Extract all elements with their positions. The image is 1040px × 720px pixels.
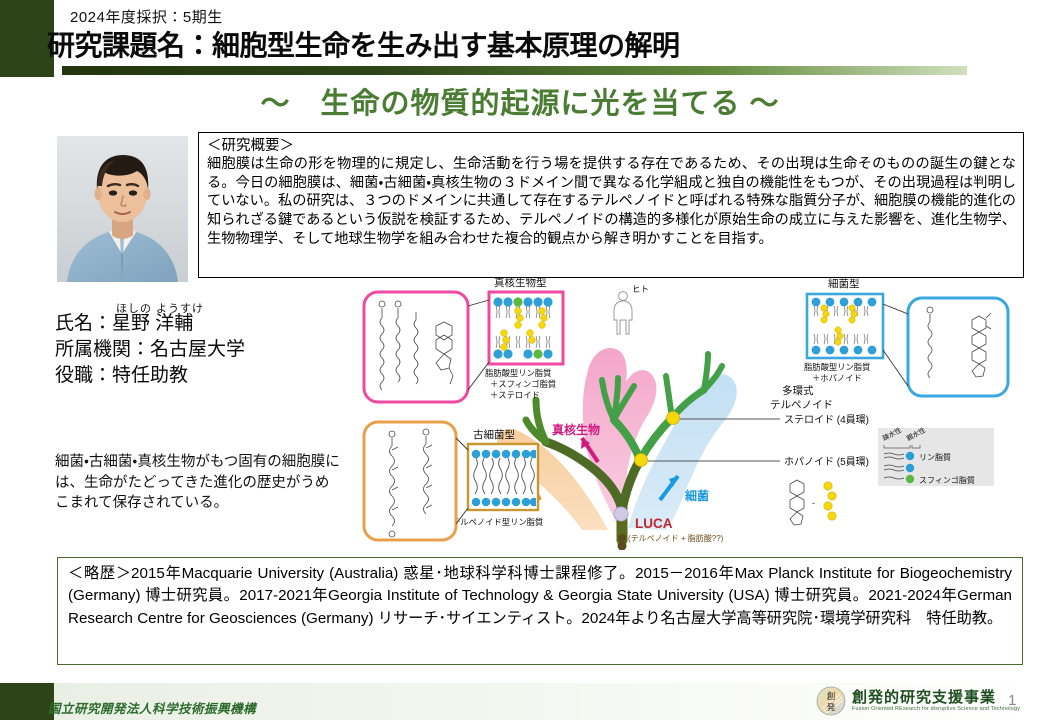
archaea-caption-1: テルペノイド型リン脂質 bbox=[452, 517, 543, 527]
organization-name: 国立研究開発法人科学技術振興機構 bbox=[48, 698, 256, 717]
bacteria-membrane-bilayer bbox=[809, 296, 881, 356]
profile-affiliation: 所属機関：名古屋大学 bbox=[55, 337, 245, 363]
bacteria-structure-box bbox=[908, 298, 1008, 396]
program-logo: 創 発 創発的研究支援事業 Fusion Oriented REsearch f… bbox=[816, 686, 1020, 716]
terpenoid-title-line1: 多環式 bbox=[782, 384, 814, 397]
research-summary-heading: ＜研究概要＞ bbox=[207, 137, 1016, 155]
eukaryote-caption-3: ＋ステロイド bbox=[490, 390, 540, 400]
page-number: 1 bbox=[1008, 692, 1016, 709]
steroid-node bbox=[667, 412, 680, 425]
page-title: 研究課題名：細胞型生命を生み出す基本原理の解明 bbox=[47, 24, 680, 64]
svg-text:創: 創 bbox=[827, 692, 836, 702]
human-label: ヒト bbox=[632, 284, 649, 294]
legend-sphingolipid-head bbox=[906, 475, 914, 483]
archaea-structure-box bbox=[364, 422, 456, 540]
bacteria-label: 細菌 bbox=[685, 488, 709, 503]
program-logo-text: 創発的研究支援事業 Fusion Oriented REsearch for d… bbox=[852, 690, 1020, 712]
archaea-membrane-monolayer bbox=[470, 446, 538, 508]
polycyclic-structure-sketch bbox=[790, 480, 804, 525]
profile-name: 氏名：星野 洋輔 bbox=[55, 311, 245, 337]
bacteria-panel-title: 細菌型 bbox=[828, 278, 860, 290]
structure-dash-label: - bbox=[812, 498, 815, 508]
bacteria-caption-1: 脂肪酸型リン脂質 bbox=[804, 362, 870, 372]
profile-position: 役職：特任助教 bbox=[55, 363, 245, 389]
create-logo-icon: 創 発 bbox=[816, 686, 846, 716]
research-summary-box: ＜研究概要＞ 細胞膜は生命の形を物理的に規定し、生命活動を行う場を提供する存在で… bbox=[198, 132, 1024, 278]
profile-block: 氏名：星野 洋輔 所属機関：名古屋大学 役職：特任助教 bbox=[55, 311, 245, 388]
terpenoid-bead-chain bbox=[824, 482, 836, 520]
steroid-label: ステロイド (4員環) bbox=[784, 414, 869, 426]
program-name-en: Fusion Oriented REsearch for disruptive … bbox=[852, 707, 1020, 712]
eukaryote-label: 真核生物 bbox=[552, 422, 600, 437]
luca-sublabel: (テルペノイド + 脂肪酸??) bbox=[628, 533, 724, 543]
biography-box: ＜略歴＞2015年Macquarie University (Australia… bbox=[57, 557, 1023, 665]
membrane-evolution-figure: ヒト 真核生物 細菌 古細菌 LUCA (テルペノイド + 脂肪酸??) bbox=[360, 278, 1030, 550]
human-icon bbox=[614, 292, 632, 334]
footer-accent-bar bbox=[0, 683, 54, 720]
header-accent-bar bbox=[0, 0, 54, 77]
biography-text: ＜略歴＞2015年Macquarie University (Australia… bbox=[68, 563, 1012, 630]
program-name-jp: 創発的研究支援事業 bbox=[852, 690, 1020, 705]
slide-root: 2024年度採択：5期生 研究課題名：細胞型生命を生み出す基本原理の解明 〜 生… bbox=[0, 0, 1040, 720]
research-summary-text: 細胞膜は生命の形を物理的に規定し、生命活動を行う場を提供する存在であるため、その… bbox=[207, 155, 1016, 248]
luca-node bbox=[614, 507, 628, 521]
tree-root-dot bbox=[618, 534, 626, 542]
svg-text:発: 発 bbox=[827, 703, 836, 713]
legend-phospholipid-head bbox=[906, 452, 914, 460]
hopanoid-label: ホパノイド (5員環) bbox=[784, 456, 869, 468]
archaea-panel-title: 古細菌型 bbox=[473, 428, 515, 441]
terpenoid-title-line2: テルペノイド bbox=[770, 399, 833, 411]
eukaryote-panel-title: 真核生物型 bbox=[494, 278, 547, 289]
researcher-photo bbox=[57, 136, 188, 282]
legend-phospholipid-head bbox=[906, 464, 914, 472]
hopanoid-node bbox=[635, 454, 648, 467]
luca-label: LUCA bbox=[635, 516, 673, 531]
bacteria-caption-2: ＋ホパノイド bbox=[812, 373, 862, 383]
title-divider-rule bbox=[62, 66, 967, 75]
eukaryote-caption-1: 脂肪酸型リン脂質 bbox=[485, 368, 551, 378]
figure-caption-note: 細菌・古細菌・真核生物がもつ固有の細胞膜には、生命がたどってきた進化の歴史がうめ… bbox=[55, 452, 340, 514]
legend-phospholipid-label: リン脂質 bbox=[919, 452, 951, 462]
eukaryote-caption-2: ＋スフィンゴ脂質 bbox=[490, 379, 556, 389]
eukaryote-membrane-bilayer bbox=[491, 294, 561, 362]
legend-sphingolipid-label: スフィンゴ脂質 bbox=[919, 475, 975, 485]
page-subtitle: 〜 生命の物質的起源に光を当てる 〜 bbox=[0, 80, 1040, 122]
